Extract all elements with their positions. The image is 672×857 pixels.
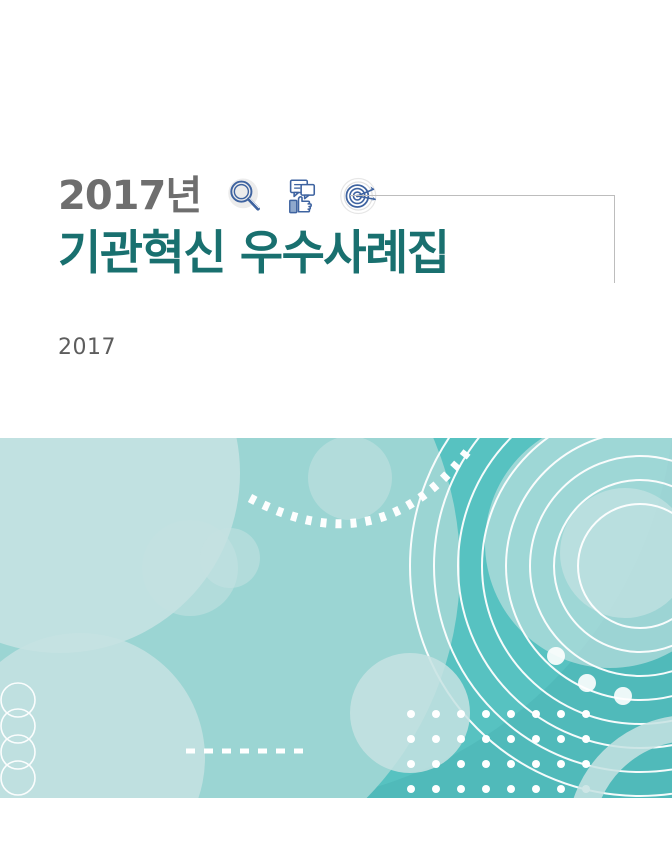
magnifier-icon — [223, 175, 265, 217]
teal-band-graphic — [0, 438, 672, 798]
decorative-teal-band — [0, 438, 672, 798]
target-dart-icon — [339, 175, 381, 217]
year-and-icons-row: 2017년 — [58, 170, 381, 222]
year-label: 2017년 — [58, 176, 201, 216]
subtitle-year: 2017 — [58, 337, 116, 359]
icon-strip — [223, 175, 381, 217]
header-rule-vertical — [614, 195, 615, 283]
report-cover-page: 2017년 — [0, 0, 672, 857]
speech-bubble-hand-icon — [281, 175, 323, 217]
cover-header: 2017년 — [0, 0, 672, 438]
header-rule-horizontal — [350, 195, 615, 196]
page-title: 기관혁신 우수사례집 — [58, 228, 449, 280]
